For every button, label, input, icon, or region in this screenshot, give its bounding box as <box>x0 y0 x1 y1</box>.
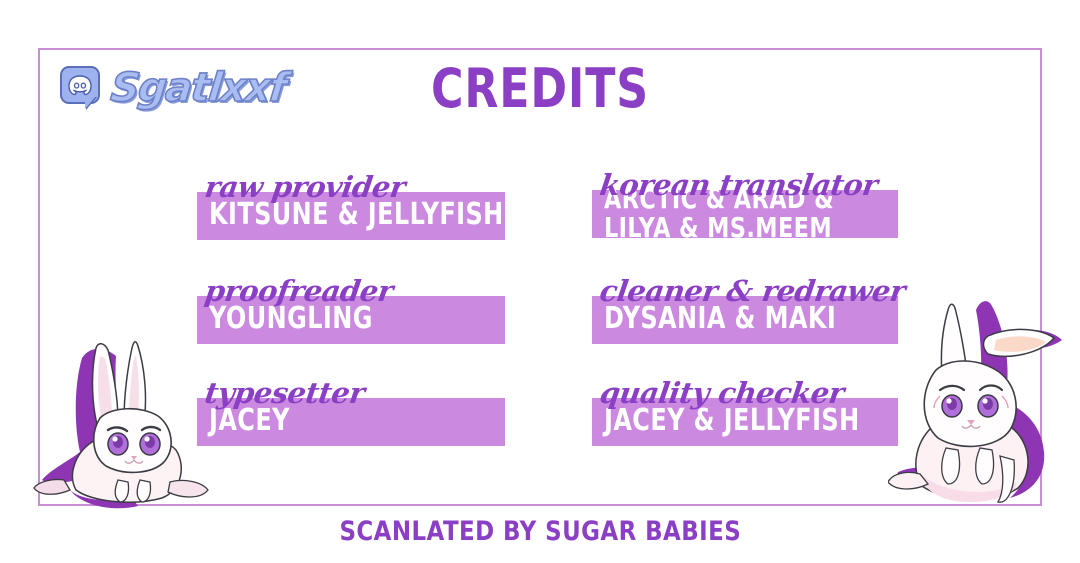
credit-entry-korean-translator: korean translator ARCTIC & ARAD & LILYA … <box>592 190 898 238</box>
credit-name-line: DYSANIA & MAKI <box>604 304 836 334</box>
credit-names: YOUNGLING <box>209 304 373 334</box>
footer-text: SCANLATED BY SUGAR BABIES <box>339 518 741 545</box>
credit-name-line: KITSUNE & JELLYFISH <box>209 200 504 230</box>
footer-credit: SCANLATED BY SUGAR BABIES <box>0 518 1080 545</box>
credit-role-label: quality checker <box>598 376 846 410</box>
credit-entry-cleaner-redrawer: cleaner & redrawer DYSANIA & MAKI <box>592 296 898 344</box>
credit-names: JACEY & JELLYFISH <box>604 406 860 436</box>
credit-entry-typesetter: typesetter JACEY <box>197 398 505 446</box>
credit-names: JACEY <box>209 406 290 436</box>
discord-icon <box>67 75 93 96</box>
credit-name-line: YOUNGLING <box>209 304 373 334</box>
credit-entry-quality-checker: quality checker JACEY & JELLYFISH <box>592 398 898 446</box>
credit-role-label: raw provider <box>203 170 408 204</box>
credit-entry-raw-provider: raw provider KITSUNE & JELLYFISH <box>197 192 505 240</box>
credit-entry-proofreader: proofreader YOUNGLING <box>197 296 505 344</box>
credit-names: KITSUNE & JELLYFISH <box>209 200 504 230</box>
credit-role-label: proofreader <box>203 274 396 308</box>
credit-name-line: JACEY & JELLYFISH <box>604 406 860 436</box>
credit-name-line: JACEY <box>209 406 290 436</box>
credit-role-label: typesetter <box>203 376 367 410</box>
credits-page: Sgatlxxf CREDITS raw provider KITSUNE & … <box>0 0 1080 563</box>
credit-name-line: LILYA & MS.MEEM <box>604 213 834 242</box>
credit-role-label: cleaner & redrawer <box>598 274 908 308</box>
credit-names: DYSANIA & MAKI <box>604 304 836 334</box>
chibi-bunny-illustration-right <box>888 296 1080 518</box>
credit-role-label: korean translator <box>598 168 880 202</box>
page-title: CREDITS <box>97 62 983 116</box>
